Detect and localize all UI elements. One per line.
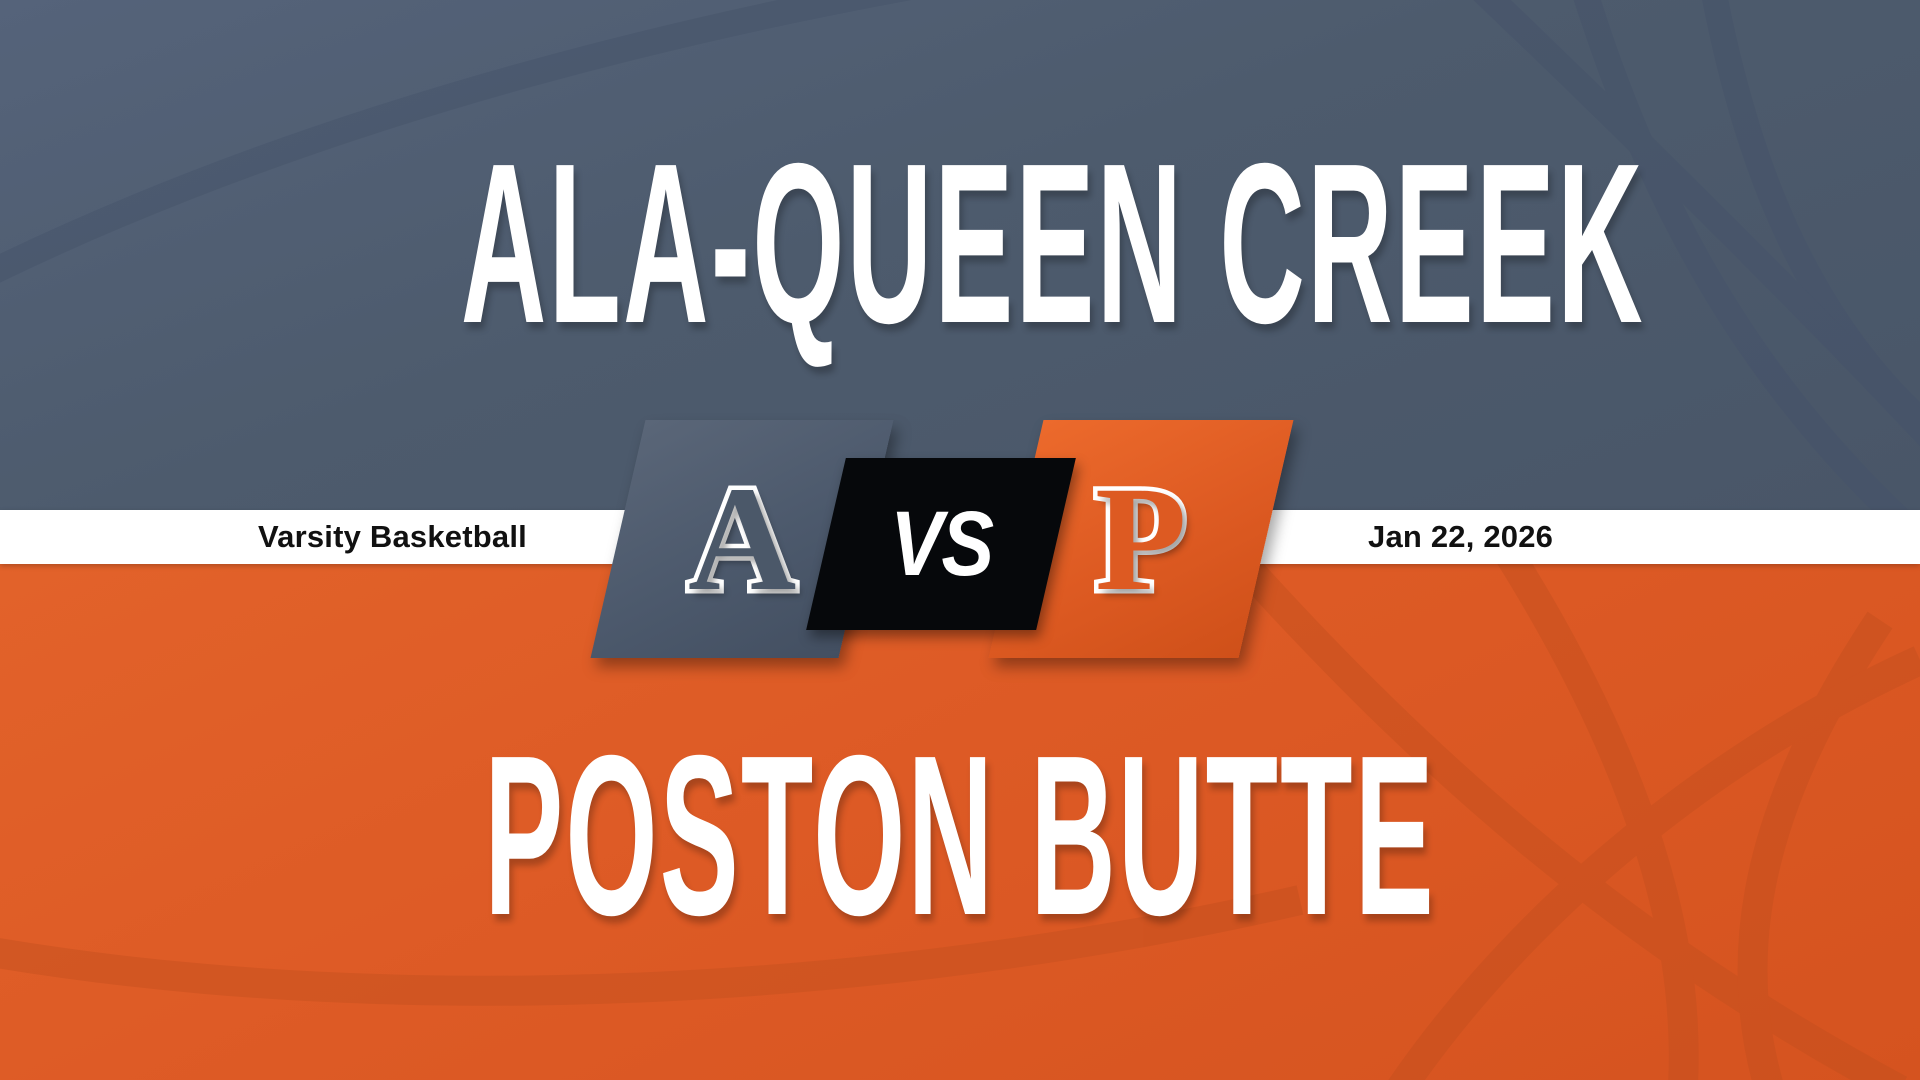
away-monogram-icon: P xyxy=(1095,464,1187,614)
versus-panel: VS xyxy=(806,458,1076,630)
game-date-label: Jan 22, 2026 xyxy=(1368,519,1553,555)
away-team-name: POSTON BUTTE xyxy=(461,722,1459,950)
sport-label: Varsity Basketball xyxy=(258,519,527,555)
versus-block: A VS P xyxy=(580,420,1340,670)
versus-label: VS xyxy=(890,498,992,590)
matchup-graphic: ALA-QUEEN CREEK POSTON BUTTE Varsity Bas… xyxy=(0,0,1920,1080)
home-monogram-icon: A xyxy=(688,464,796,614)
home-team-name: ALA-QUEEN CREEK xyxy=(461,130,1459,358)
